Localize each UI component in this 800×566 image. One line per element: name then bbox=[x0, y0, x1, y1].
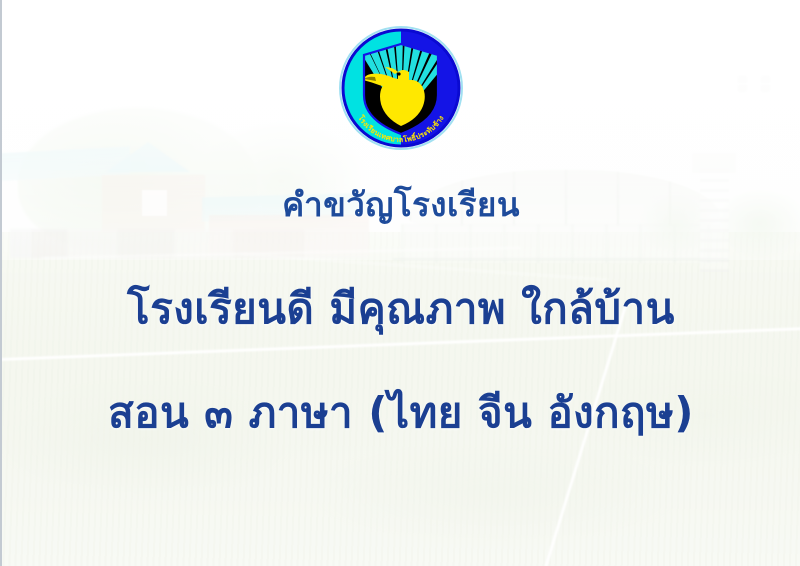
floodlight-lamp-right bbox=[761, 76, 770, 92]
teal-roof-pavilion bbox=[106, 142, 190, 172]
parked-vehicles-row bbox=[10, 229, 369, 257]
floodlight-lamp-array bbox=[692, 153, 736, 173]
motto-line-1: โรงเรียนดี มีคุณภาพ ใกล้บ้าน bbox=[2, 276, 800, 342]
school-logo: โรงเรียนเทศบาลโพธิ์ประทับช้าง bbox=[335, 22, 467, 154]
motto-line-2: สอน ๓ ภาษา (ไทย จีน อังกฤษ) bbox=[2, 380, 800, 446]
teal-roof-far-left bbox=[0, 146, 130, 181]
school-motto-slide: โรงเรียนเทศบาลโพธิ์ประทับช้าง คำขวัญโรงเ… bbox=[0, 0, 800, 566]
pitch-line-upper bbox=[42, 247, 521, 259]
grandstand-railing bbox=[393, 258, 728, 260]
motto-heading: คำขวัญโรงเรียน bbox=[2, 178, 800, 231]
floodlight-lamp-left bbox=[738, 76, 747, 92]
school-emblem-icon: โรงเรียนเทศบาลโพธิ์ประทับช้าง bbox=[335, 22, 467, 154]
